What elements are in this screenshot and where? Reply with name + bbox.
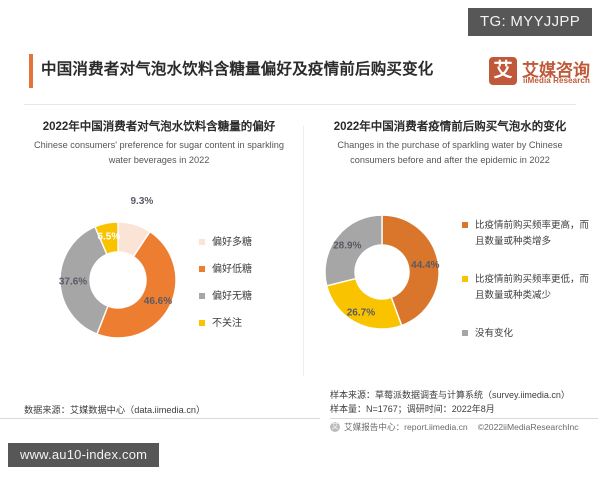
page-title: 中国消费者对气泡水饮料含糖量偏好及疫情前后购买变化 (41, 54, 434, 86)
right-chart-legend: 比疫情前购买频率更高，而 且数量或种类增多比疫情前购买频率更低，而 且数量或种类… (462, 218, 594, 364)
donut-slice-label: 37.6% (59, 276, 87, 287)
legend-item[interactable]: 比疫情前购买频率更高，而 且数量或种类增多 (462, 218, 594, 250)
donut-slice-label: 44.4% (411, 260, 439, 271)
donut-slice-label: 28.9% (333, 240, 361, 251)
legend-swatch-icon (199, 239, 205, 245)
legend-item-label: 比疫情前购买频率更高，而 且数量或种类增多 (475, 218, 589, 250)
right-source-block: 样本来源：草莓派数据调查与计算系统（survey.iimedia.cn） 样本量… (330, 388, 598, 416)
header: 中国消费者对气泡水饮料含糖量偏好及疫情前后购买变化 艾 艾媒咨询 iiMedia… (0, 52, 600, 98)
left-source-note: 数据来源：艾媒数据中心（data.iimedia.cn） (24, 402, 205, 416)
header-divider (24, 104, 576, 105)
sample-source-note: 样本来源：草莓派数据调查与计算系统（survey.iimedia.cn） (330, 388, 598, 402)
iimedia-round-icon: 艾 (330, 422, 340, 432)
site-watermark-badge: www.au10-index.com (8, 443, 159, 467)
right-chart-title-cn: 2022年中国消费者疫情前后购买气泡水的变化 (305, 118, 595, 134)
iimedia-logo: 艾 艾媒咨询 iiMedia Research (489, 54, 589, 90)
legend-item-label: 偏好无糖 (212, 289, 252, 304)
legend-item[interactable]: 偏好无糖 (199, 289, 252, 304)
legend-item[interactable]: 不关注 (199, 316, 252, 331)
legend-swatch-icon (462, 330, 468, 336)
report-center-line: 艾 艾媒报告中心：report.iimedia.cn ©2022iiMediaR… (330, 421, 579, 433)
legend-item-label: 偏好多糖 (212, 235, 252, 250)
right-source-divider (330, 418, 598, 419)
infographic-canvas: TG: MYYJJPP 中国消费者对气泡水饮料含糖量偏好及疫情前后购买变化 艾 … (0, 0, 600, 480)
left-chart-legend: 偏好多糖偏好低糖偏好无糖不关注 (199, 235, 252, 343)
left-donut-svg: 9.3%46.6%37.6%6.5% (45, 207, 195, 357)
legend-swatch-icon (462, 276, 468, 282)
legend-item[interactable]: 比疫情前购买频率更低，而 且数量或种类减少 (462, 272, 594, 304)
copyright-label: ©2022iiMediaResearchInc (478, 422, 579, 432)
legend-swatch-icon (199, 266, 205, 272)
legend-swatch-icon (199, 320, 205, 326)
logo-brand-en: iiMedia Research (523, 76, 590, 85)
title-accent-bar (29, 54, 33, 88)
left-donut-chart: 9.3%46.6%37.6%6.5% (45, 207, 195, 357)
report-center-label: 艾媒报告中心：report.iimedia.cn (344, 421, 468, 433)
legend-item[interactable]: 偏好低糖 (199, 262, 252, 277)
legend-item[interactable]: 偏好多糖 (199, 235, 252, 250)
legend-swatch-icon (199, 293, 205, 299)
donut-slice (327, 279, 402, 329)
left-chart-title-cn: 2022年中国消费者对气泡水饮料含糖量的偏好 (14, 118, 304, 134)
sample-size-note: 样本量：N=1767；调研时间：2022年8月 (330, 402, 598, 416)
left-source-divider (0, 418, 320, 419)
donut-slice-label: 26.7% (347, 307, 375, 318)
right-chart-title-en: Changes in the purchase of sparkling wat… (319, 138, 581, 168)
right-donut-svg: 44.4%26.7%28.9% (309, 199, 457, 347)
legend-item-label: 不关注 (212, 316, 242, 331)
telegram-watermark-badge: TG: MYYJJPP (468, 8, 592, 36)
donut-slice-label: 46.6% (144, 296, 172, 307)
legend-item[interactable]: 没有变化 (462, 326, 594, 342)
legend-swatch-icon (462, 222, 468, 228)
right-donut-slices (325, 215, 439, 329)
legend-item-label: 偏好低糖 (212, 262, 252, 277)
left-chart-title-en: Chinese consumers' preference for sugar … (28, 138, 290, 168)
legend-item-label: 比疫情前购买频率更低，而 且数量或种类减少 (475, 272, 589, 304)
donut-slice-label: 6.5% (97, 231, 120, 242)
donut-slice-label: 9.3% (131, 196, 154, 207)
logo-mark-icon: 艾 (489, 57, 517, 85)
legend-item-label: 没有变化 (475, 326, 513, 342)
right-donut-chart: 44.4%26.7%28.9% (309, 199, 457, 347)
